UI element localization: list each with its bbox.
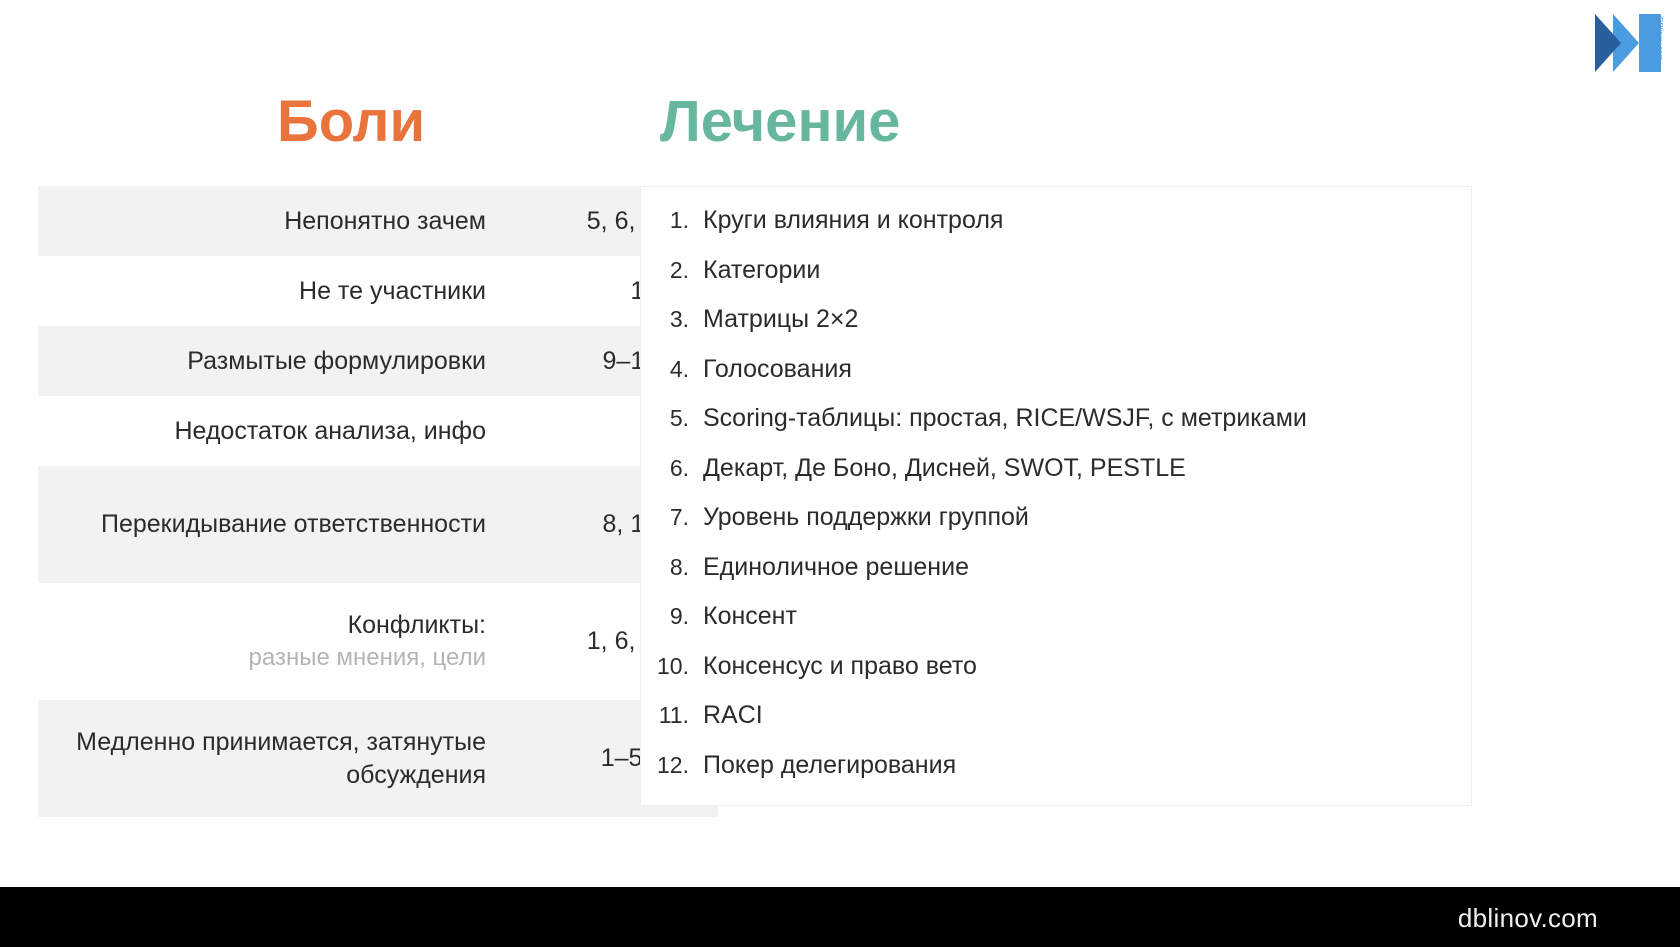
cure-item-number: 7. — [641, 504, 703, 531]
pain-label-cell: Размытые формулировки — [38, 326, 506, 396]
footer-website-text: dblinov.com — [1458, 903, 1598, 934]
pains-table-row: Непонятно зачем5, 6, 9–10 — [38, 186, 718, 256]
pain-label-cell: Недостаток анализа, инфо — [38, 396, 506, 466]
cure-item-number: 11. — [641, 702, 703, 729]
pain-label-subtext: разные мнения, цели — [58, 642, 486, 674]
pains-table: Непонятно зачем5, 6, 9–10Не те участники… — [38, 186, 718, 817]
cure-item-number: 1. — [641, 207, 703, 234]
pain-label-text: Медленно принимается, затянутые обсужден… — [76, 728, 486, 789]
cure-list-item: 11.RACI — [641, 701, 1471, 751]
cure-item-text: Матрицы 2×2 — [703, 305, 858, 334]
cure-item-text: RACI — [703, 701, 763, 730]
cure-list-item: 10.Консенсус и право вето — [641, 652, 1471, 702]
cure-item-text: Консенсус и право вето — [703, 652, 977, 681]
logo-brand-text: DBlinov.com — [1657, 17, 1665, 61]
pain-label-text: Не те участники — [299, 277, 486, 305]
pain-label-cell: Не те участники — [38, 256, 506, 326]
logo-triangle-shape — [1595, 14, 1621, 72]
cure-list-item: 4.Голосования — [641, 355, 1471, 405]
cures-panel: 1.Круги влияния и контроля2.Категории3.М… — [640, 186, 1472, 806]
cure-item-number: 9. — [641, 603, 703, 630]
cure-list-item: 7.Уровень поддержки группой — [641, 503, 1471, 553]
cure-list-item: 9.Консент — [641, 602, 1471, 652]
cure-item-number: 8. — [641, 554, 703, 581]
pains-table-row: Медленно принимается, затянутые обсужден… — [38, 700, 718, 817]
pains-table-row: Перекидывание ответственности8, 11–12 — [38, 466, 718, 583]
pain-label-text: Размытые формулировки — [187, 347, 486, 375]
cure-item-number: 2. — [641, 257, 703, 284]
pains-heading: Боли — [277, 93, 425, 151]
pains-table-row: Конфликты:разные мнения, цели1, 6, 9–10 — [38, 583, 718, 700]
cure-item-text: Круги влияния и контроля — [703, 206, 1003, 235]
pain-label-text: Недостаток анализа, инфо — [174, 417, 486, 445]
cure-list-item: 1.Круги влияния и контроля — [641, 206, 1471, 256]
cure-item-number: 10. — [641, 653, 703, 680]
pain-label-text: Перекидывание ответственности — [101, 510, 486, 538]
cure-item-text: Scoring-таблицы: простая, RICE/WSJF, с м… — [703, 404, 1307, 433]
cure-item-text: Голосования — [703, 355, 852, 384]
pains-table-row: Не те участники11–12 — [38, 256, 718, 326]
cure-item-text: Декарт, Де Боно, Дисней, SWOT, PESTLE — [703, 454, 1186, 483]
cure-item-number: 6. — [641, 455, 703, 482]
cure-item-text: Уровень поддержки группой — [703, 503, 1029, 532]
cure-item-text: Категории — [703, 256, 820, 285]
cure-item-text: Единоличное решение — [703, 553, 969, 582]
footer-bar: dblinov.com — [0, 887, 1680, 947]
cures-heading: Лечение — [660, 93, 900, 151]
dblinov-logo: DBlinov.com — [1587, 8, 1665, 80]
cure-item-number: 5. — [641, 405, 703, 432]
pain-label-cell: Конфликты:разные мнения, цели — [38, 583, 506, 700]
pain-label-cell: Медленно принимается, затянутые обсужден… — [38, 700, 506, 817]
cure-item-number: 12. — [641, 752, 703, 779]
pains-table-row: Недостаток анализа, инфо6 — [38, 396, 718, 466]
cure-list-item: 12.Покер делегирования — [641, 751, 1471, 801]
cure-list-item: 2.Категории — [641, 256, 1471, 306]
cure-item-text: Покер делегирования — [703, 751, 956, 780]
cure-item-text: Консент — [703, 602, 797, 631]
cure-list-item: 3.Матрицы 2×2 — [641, 305, 1471, 355]
cure-list-item: 5.Scoring-таблицы: простая, RICE/WSJF, с… — [641, 404, 1471, 454]
pain-label-text: Конфликты: — [348, 611, 486, 639]
pain-label-text: Непонятно зачем — [284, 207, 486, 235]
pains-table-row: Размытые формулировки9–10, 11 — [38, 326, 718, 396]
pain-label-cell: Перекидывание ответственности — [38, 466, 506, 583]
cure-list-item: 8.Единоличное решение — [641, 553, 1471, 603]
cure-item-number: 3. — [641, 306, 703, 333]
cure-item-number: 4. — [641, 356, 703, 383]
cures-list: 1.Круги влияния и контроля2.Категории3.М… — [641, 187, 1471, 800]
pain-label-cell: Непонятно зачем — [38, 186, 506, 256]
cure-list-item: 6.Декарт, Де Боно, Дисней, SWOT, PESTLE — [641, 454, 1471, 504]
